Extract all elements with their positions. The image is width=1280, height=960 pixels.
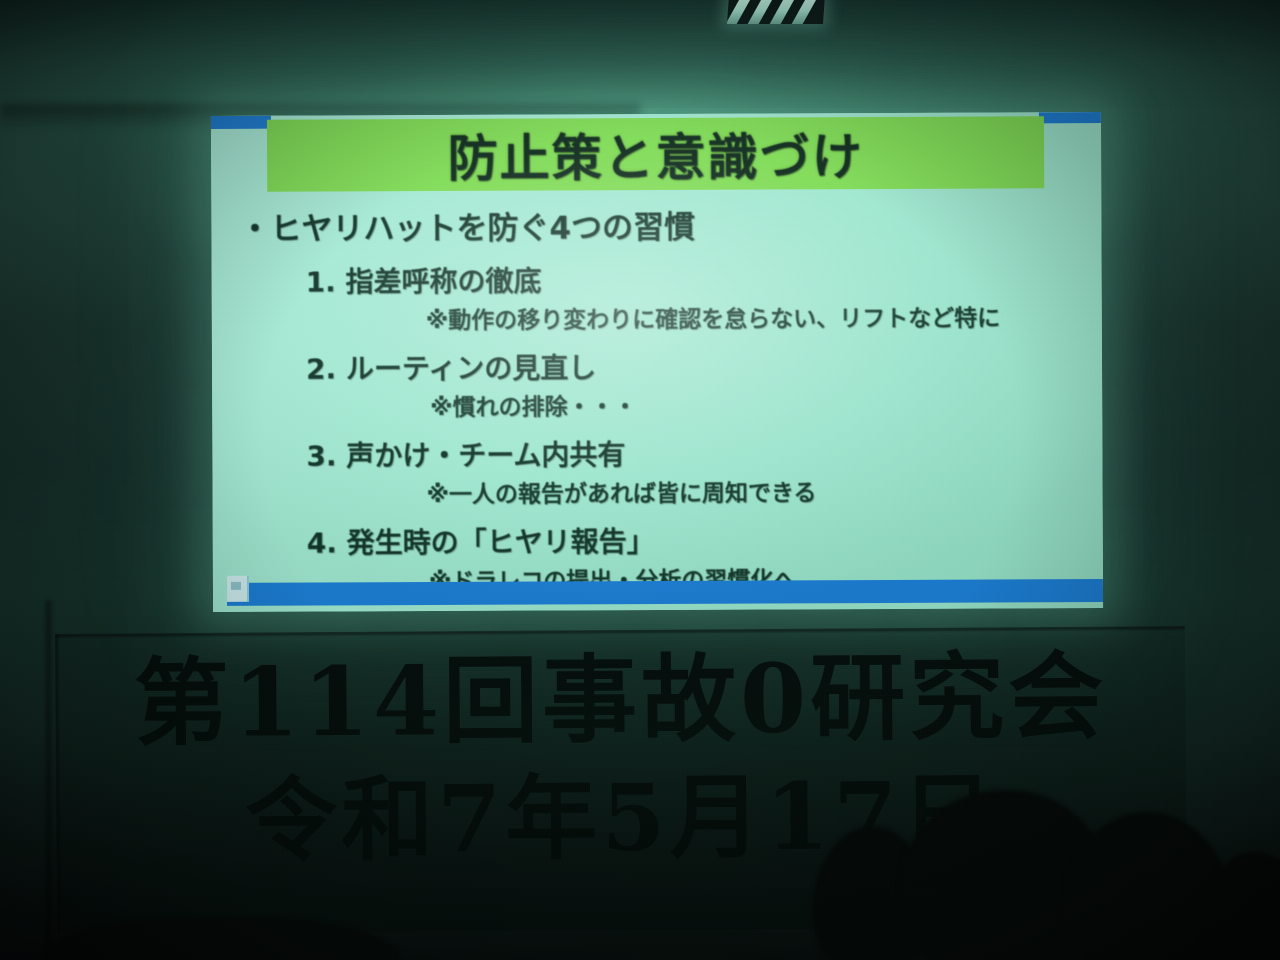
slide-corner-badge-icon [227,576,249,602]
slide-point-2-note: ※慣れの排除・・・ [430,385,1090,422]
slide-title: 防止策と意識づけ [447,117,863,191]
slide-lead-line: ・ヒヤリハットを防ぐ4つの習慣 [239,200,1089,249]
slide-accent-strip-top-left [211,116,271,129]
slide-point-1-heading: 1. 指差呼称の徹底 [306,257,1090,300]
slide-point-1: 1. 指差呼称の徹底 ※動作の移り変わりに確認を怠らない、リフトなど特に [230,257,1090,336]
slide-point-3: 3. 声かけ・チーム内共有 ※一人の報告があれば皆に周知できる [230,431,1090,510]
wall-edge-line [46,600,51,960]
room-scene: 防止策と意識づけ ・ヒヤリハットを防ぐ4つの習慣 1. 指差呼称の徹底 ※動作の… [0,0,1280,960]
slide-point-2: 2. ルーティンの見直し ※慣れの排除・・・ [230,344,1090,423]
slide-body: ・ヒヤリハットを防ぐ4つの習慣 1. 指差呼称の徹底 ※動作の移り変わりに確認を… [229,196,1091,576]
ceiling-light-icon [727,0,825,24]
slide-point-2-heading: 2. ルーティンの見直し [306,344,1090,387]
slide-point-1-note: ※動作の移り変わりに確認を怠らない、リフトなど特に [426,298,1090,335]
wall-banner-title: 第114回事故0研究会 [55,638,1186,764]
slide-point-4-heading: 4. 発生時の「ヒヤリ報告」 [307,518,1091,561]
ceiling-band [0,0,1280,108]
projection-screen: 防止策と意識づけ ・ヒヤリハットを防ぐ4つの習慣 1. 指差呼称の徹底 ※動作の… [211,112,1103,612]
slide-accent-strip-top-right [1039,112,1101,123]
presentation-slide: 防止策と意識づけ ・ヒヤリハットを防ぐ4つの習慣 1. 指差呼称の徹底 ※動作の… [211,112,1103,612]
slide-point-3-note: ※一人の報告があれば皆に周知できる [426,472,1090,509]
slide-accent-strip-bottom [227,579,1103,606]
slide-title-banner: 防止策と意識づけ [267,116,1044,191]
slide-point-3-heading: 3. 声かけ・チーム内共有 [306,431,1090,474]
